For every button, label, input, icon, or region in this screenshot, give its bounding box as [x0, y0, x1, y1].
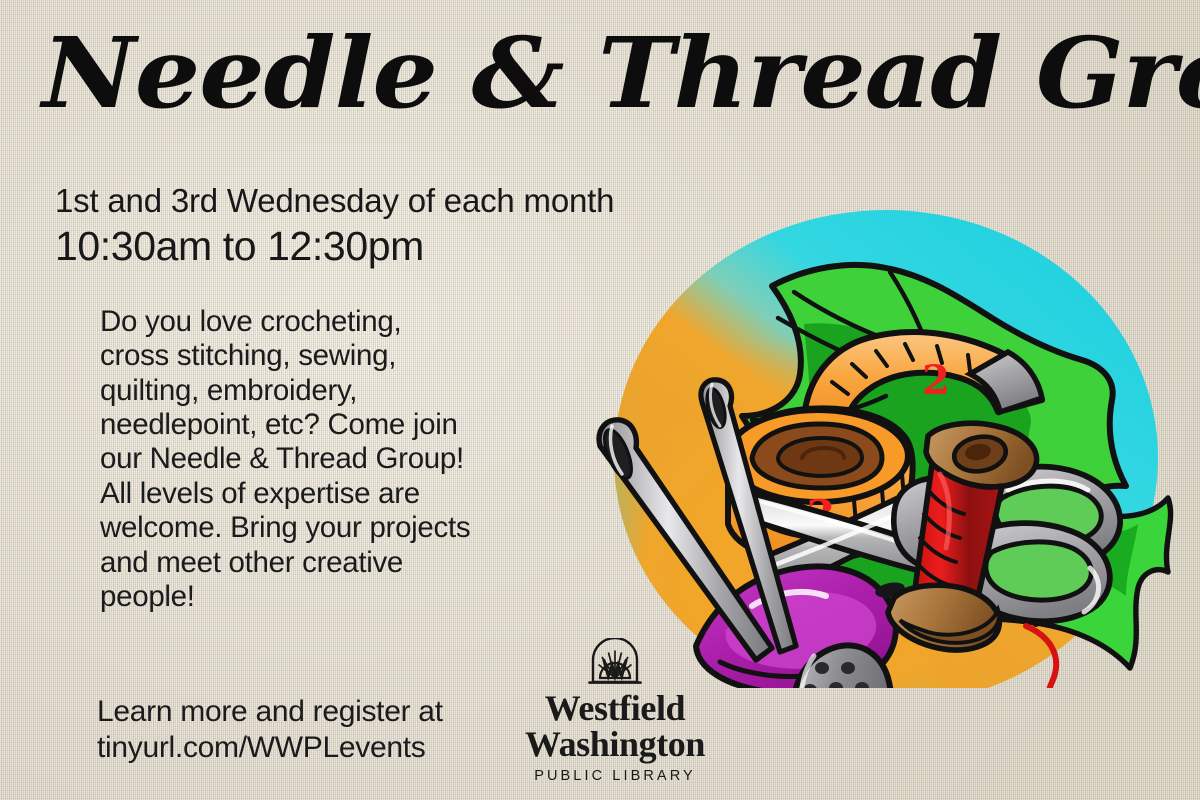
schedule-block: 1st and 3rd Wednesday of each month 10:3… [55, 182, 614, 271]
logo-line-washington: Washington [521, 727, 709, 763]
schedule-time: 10:30am to 12:30pm [55, 222, 614, 271]
logo-line-westfield: Westfield [521, 691, 709, 727]
registration-call-to-action: Learn more and register at [97, 695, 443, 728]
description-paragraph: Do you love crocheting, cross stitching,… [100, 305, 475, 614]
registration-info: Learn more and register at tinyurl.com/W… [97, 694, 527, 766]
flyer-canvas: Needle & Thread Group 1st and 3rd Wednes… [0, 0, 1200, 800]
sewing-supplies-illustration: 2 [556, 168, 1200, 688]
tape-number-2: 2 [922, 357, 950, 404]
registration-url[interactable]: tinyurl.com/WWPLevents [97, 731, 425, 764]
schedule-days: 1st and 3rd Wednesday of each month [55, 182, 614, 221]
logo-tagline: PUBLIC LIBRARY [521, 768, 709, 784]
page-title: Needle & Thread Group [42, 24, 1200, 123]
